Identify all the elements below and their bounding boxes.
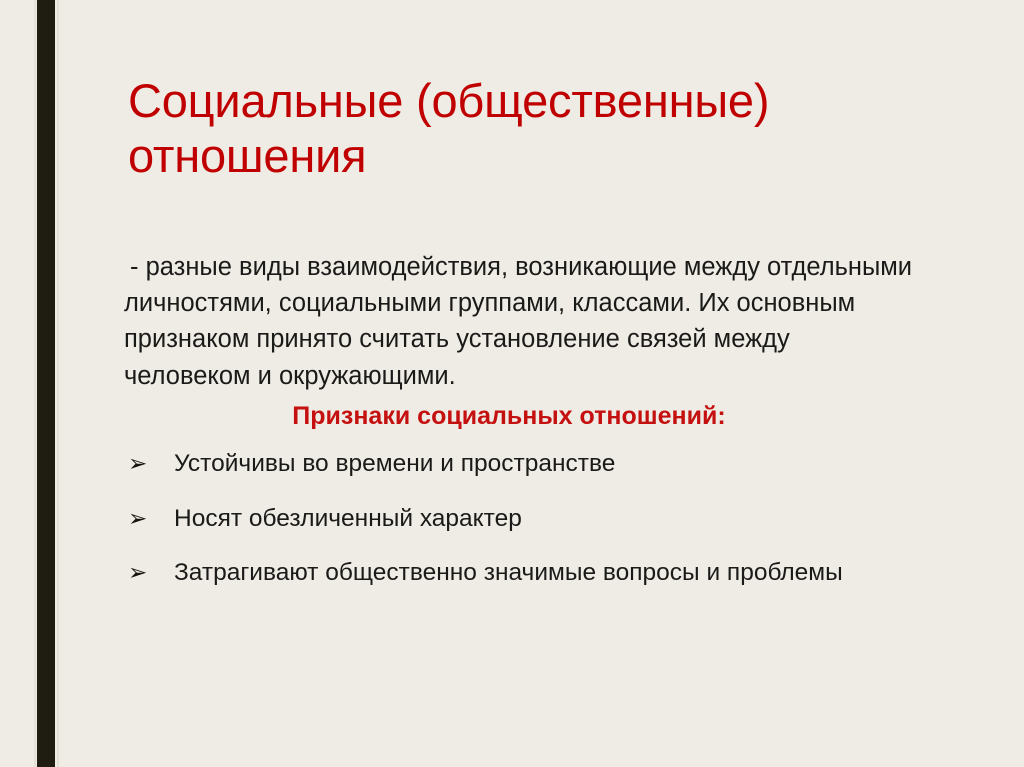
definition-paragraph: - разные виды взаимодействия, возникающи… [124,249,914,394]
features-list: ➢ Устойчивы во времени и пространстве ➢ … [120,448,920,612]
list-item: ➢ Носят обезличенный характер [120,503,920,536]
page-title: Социальные (общественные) отношения [128,73,938,184]
arrowhead-bullet-icon: ➢ [128,448,154,479]
list-item-label: Затрагивают общественно значимые вопросы… [174,557,920,590]
features-heading: Признаки социальных отношений: [124,402,894,431]
list-item-label: Носят обезличенный характер [174,503,920,536]
list-item: ➢ Устойчивы во времени и пространстве [120,448,920,481]
arrowhead-bullet-icon: ➢ [128,503,154,534]
right-accent-hairline [57,0,59,767]
left-accent-bar [37,0,55,767]
slide-content: Социальные (общественные) отношения - ра… [120,0,1010,767]
left-accent-hairline [34,0,36,767]
arrowhead-bullet-icon: ➢ [128,557,154,588]
list-item: ➢ Затрагивают общественно значимые вопро… [120,557,920,590]
list-item-label: Устойчивы во времени и пространстве [174,448,920,481]
presentation-slide: Социальные (общественные) отношения - ра… [0,0,1024,767]
